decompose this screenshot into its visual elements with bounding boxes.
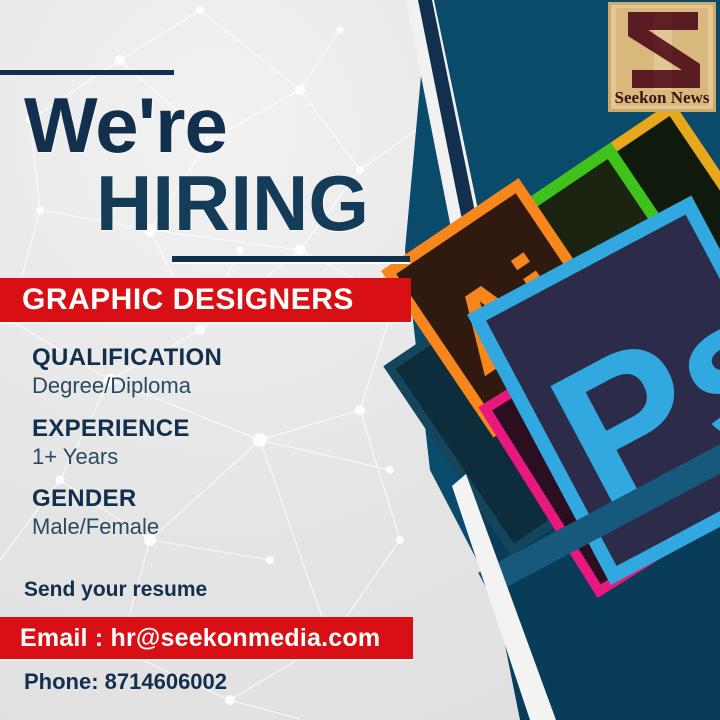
detail-item-experience: EXPERIENCE 1+ Years <box>32 416 392 471</box>
job-details-list: QUALIFICATION Degree/Diploma EXPERIENCE … <box>32 345 392 557</box>
role-label: GRAPHIC DESIGNERS <box>22 283 354 317</box>
headline-rule-top <box>0 70 174 75</box>
hiring-poster: Dw Ai Ps <box>0 0 720 720</box>
detail-item-gender: GENDER Male/Female <box>32 486 392 541</box>
detail-term: GENDER <box>32 486 392 513</box>
send-resume-label: Send your resume <box>24 578 207 602</box>
phone-label[interactable]: Phone: 8714606002 <box>24 669 227 695</box>
detail-item-qualification: QUALIFICATION Degree/Diploma <box>32 345 392 400</box>
headline-line-1: We're <box>24 86 227 164</box>
detail-value: Degree/Diploma <box>32 373 392 400</box>
email-label[interactable]: Email : hr@seekonmedia.com <box>20 624 380 653</box>
detail-term: QUALIFICATION <box>32 345 392 372</box>
logo-brand-text: Seekon News <box>615 88 710 107</box>
headline-line-2: HIRING <box>96 164 369 242</box>
detail-term: EXPERIENCE <box>32 416 392 443</box>
email-banner: Email : hr@seekonmedia.com <box>0 617 413 659</box>
detail-value: 1+ Years <box>32 444 392 471</box>
role-banner: GRAPHIC DESIGNERS <box>0 278 411 322</box>
detail-value: Male/Female <box>32 514 392 541</box>
headline-rule-bottom <box>172 256 410 264</box>
seekon-news-logo[interactable]: Seekon News <box>608 2 716 112</box>
